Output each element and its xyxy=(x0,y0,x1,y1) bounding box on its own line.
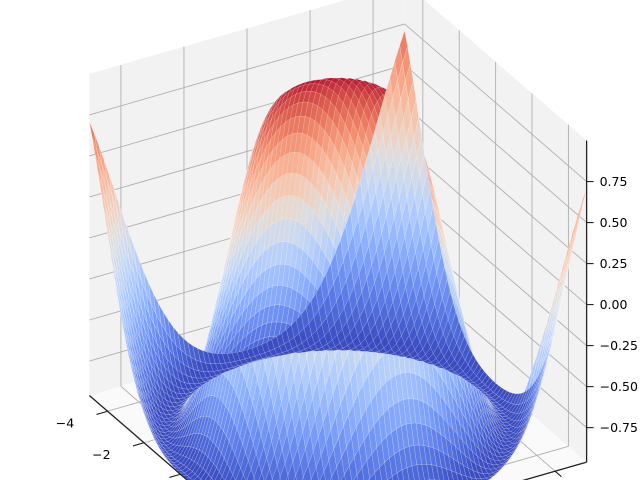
surface-plot-3d: −4−2024−4−2024−0.75−0.50−0.250.000.250.5… xyxy=(0,0,640,480)
z-tick-label: −0.75 xyxy=(600,420,638,435)
x-tick-label: −4 xyxy=(56,416,74,431)
y-tick-mark xyxy=(555,471,561,477)
x-tick-mark xyxy=(133,443,144,446)
z-tick-label: −0.50 xyxy=(600,379,638,394)
x-tick-label: −2 xyxy=(92,447,110,462)
z-tick-label: 0.50 xyxy=(600,215,628,230)
z-tick-label: −0.25 xyxy=(600,338,638,353)
z-tick-label: 0.00 xyxy=(600,297,628,312)
x-tick-mark xyxy=(169,474,180,477)
z-tick-label: 0.25 xyxy=(600,256,628,271)
x-tick-mark xyxy=(97,411,108,414)
figure-canvas: −4−2024−4−2024−0.75−0.50−0.250.000.250.5… xyxy=(0,0,640,480)
z-tick-label: 0.75 xyxy=(600,174,628,189)
